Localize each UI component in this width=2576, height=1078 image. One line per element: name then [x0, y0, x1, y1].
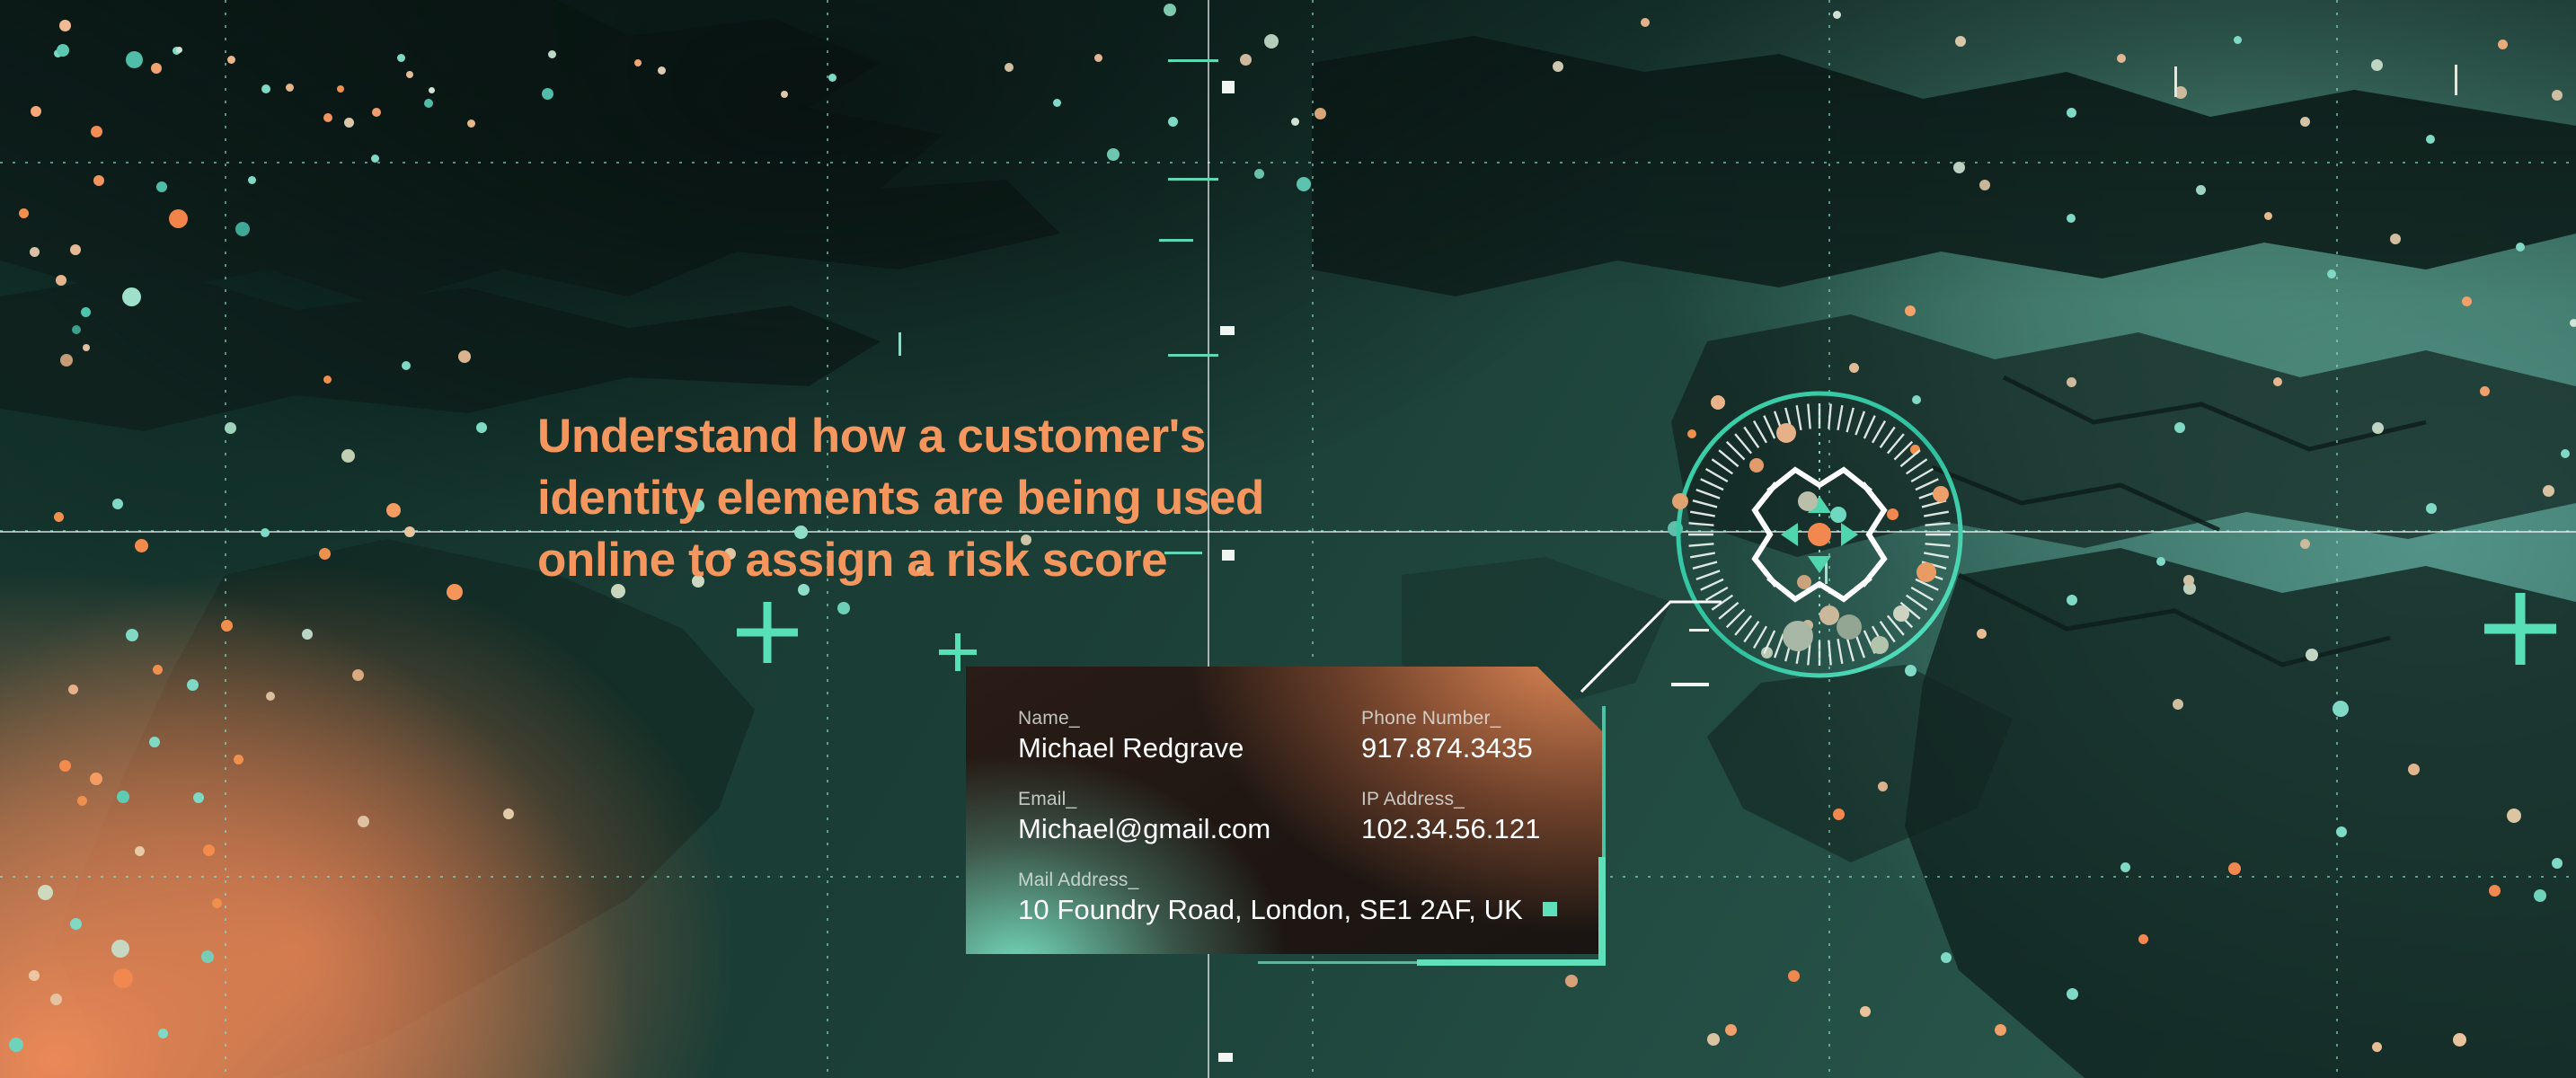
field-phone-value: 917.874.3435 [1361, 732, 1533, 764]
field-email: Email_ Michael@gmail.com [1018, 789, 1270, 845]
card-bracket-right [1598, 857, 1606, 965]
infographic-canvas: Understand how a customer's identity ele… [0, 0, 2576, 1078]
radar-leader-line [1554, 557, 1824, 728]
card-bracket-thin [1602, 706, 1606, 857]
field-phone: Phone Number_ 917.874.3435 [1361, 708, 1533, 764]
axis-horizontal-line [0, 531, 2576, 533]
field-name-label: Name_ [1018, 708, 1244, 729]
field-name: Name_ Michael Redgrave [1018, 708, 1244, 764]
field-mail-address-label: Mail Address_ [1018, 870, 1523, 891]
field-name-value: Michael Redgrave [1018, 732, 1244, 764]
page-headline: Understand how a customer's identity ele… [537, 406, 1264, 592]
field-mail-address: Mail Address_ 10 Foundry Road, London, S… [1018, 870, 1523, 926]
radar-center-dot [1808, 523, 1831, 546]
field-email-value: Michael@gmail.com [1018, 813, 1270, 845]
card-bracket-bottom-thin [1258, 961, 1420, 964]
card-square-marker [1543, 902, 1557, 916]
card-bracket-bottom [1417, 959, 1606, 966]
field-email-label: Email_ [1018, 789, 1270, 810]
identity-card[interactable]: Name_ Michael Redgrave Phone Number_ 917… [966, 667, 1604, 954]
field-ip-address-value: 102.34.56.121 [1361, 813, 1541, 845]
field-mail-address-value: 10 Foundry Road, London, SE1 2AF, UK [1018, 894, 1523, 926]
field-ip-address-label: IP Address_ [1361, 789, 1541, 810]
field-phone-label: Phone Number_ [1361, 708, 1533, 729]
crosshair-marker-small [939, 633, 977, 671]
crosshair-marker-large [737, 602, 798, 663]
crosshair-marker-right [2484, 593, 2556, 665]
field-ip-address: IP Address_ 102.34.56.121 [1361, 789, 1541, 845]
